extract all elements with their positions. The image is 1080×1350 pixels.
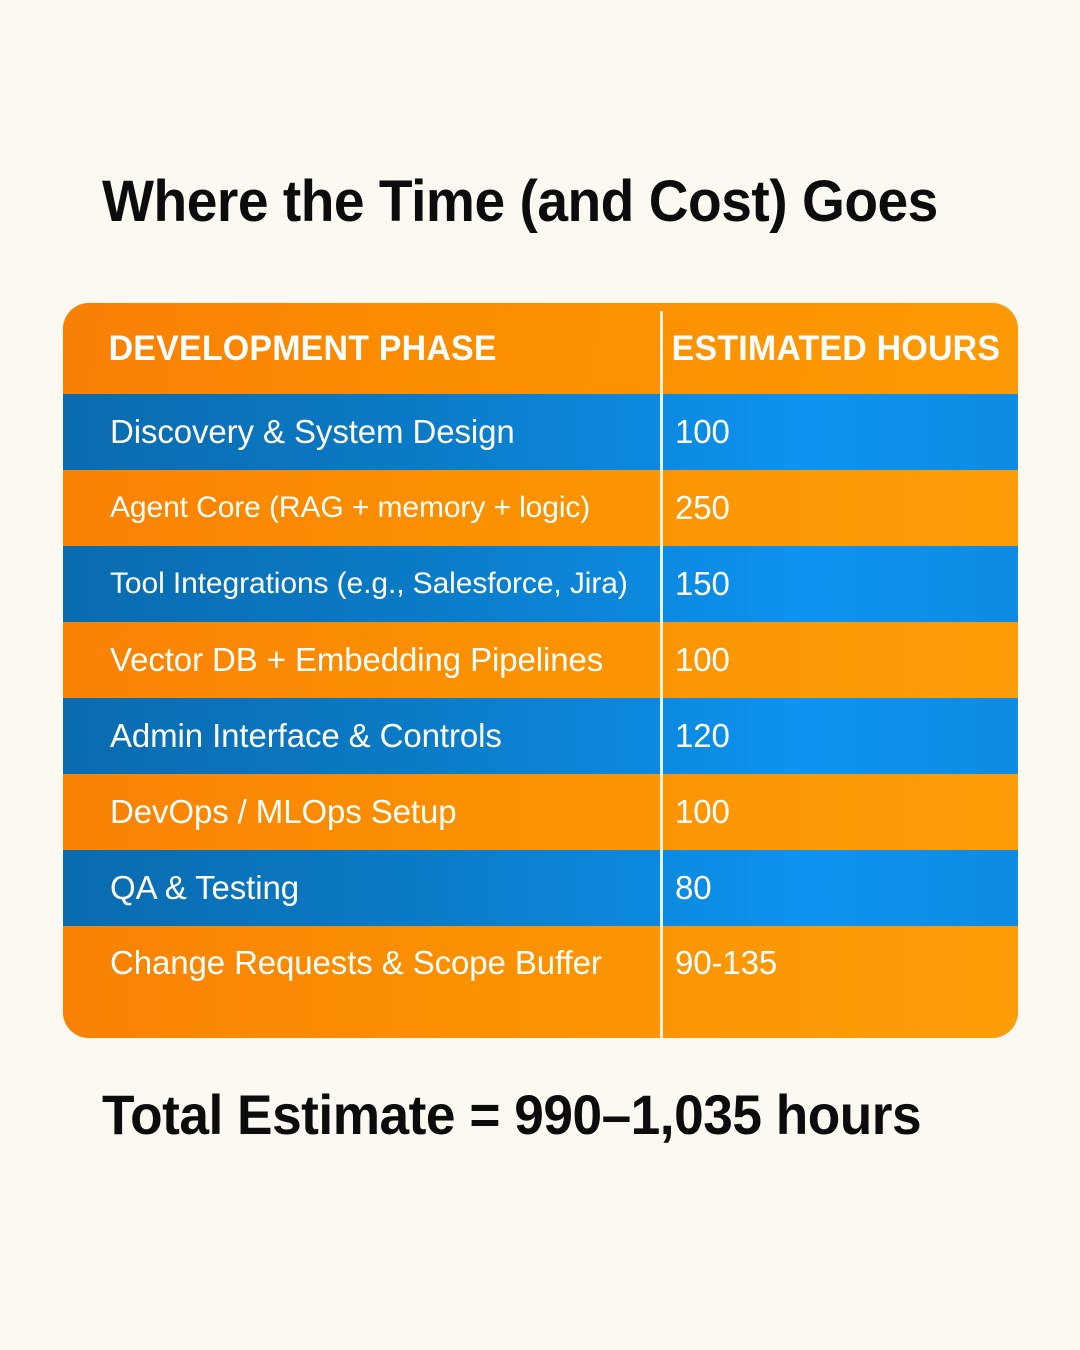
table-row[interactable]: Agent Core (RAG + memory + logic) 250 <box>63 470 1018 546</box>
total-estimate-text: Total Estimate = 990–1,035 hours <box>102 1086 957 1145</box>
column-divider <box>660 850 663 926</box>
column-divider <box>660 546 663 622</box>
cell-hours: 100 <box>660 793 1018 831</box>
cell-phase: Change Requests & Scope Buffer <box>63 944 660 982</box>
column-divider <box>660 470 663 546</box>
page-title: Where the Time (and Cost) Goes <box>102 172 957 233</box>
cell-hours: 80 <box>660 869 1018 907</box>
cell-phase: Agent Core (RAG + memory + logic) <box>63 491 660 525</box>
cell-phase: Tool Integrations (e.g., Salesforce, Jir… <box>63 567 660 601</box>
table-row[interactable]: Change Requests & Scope Buffer 90-135 <box>63 926 1018 1038</box>
cell-hours: 100 <box>660 641 1018 679</box>
column-divider <box>660 622 663 698</box>
column-header-estimated-hours: ESTIMATED HOURS <box>660 329 1007 369</box>
column-header-development-phase: DEVELOPMENT PHASE <box>63 329 642 369</box>
cell-hours: 150 <box>660 565 1018 603</box>
table-row[interactable]: Tool Integrations (e.g., Salesforce, Jir… <box>63 546 1018 622</box>
cell-hours: 90-135 <box>660 944 1018 982</box>
column-divider <box>660 394 663 470</box>
cell-hours: 250 <box>660 489 1018 527</box>
poster-canvas: Where the Time (and Cost) Goes DEVELOPME… <box>0 0 1080 1350</box>
cell-hours: 120 <box>660 717 1018 755</box>
table-row[interactable]: Discovery & System Design 100 <box>63 394 1018 470</box>
cell-phase: QA & Testing <box>63 869 660 907</box>
table-row[interactable]: QA & Testing 80 <box>63 850 1018 926</box>
cell-phase: Discovery & System Design <box>63 413 660 451</box>
table-row[interactable]: Admin Interface & Controls 120 <box>63 698 1018 774</box>
table-row[interactable]: Vector DB + Embedding Pipelines 100 <box>63 622 1018 698</box>
cell-phase: Admin Interface & Controls <box>63 717 660 755</box>
table-header-row: DEVELOPMENT PHASE ESTIMATED HOURS <box>63 303 1018 394</box>
cell-hours: 100 <box>660 413 1018 451</box>
column-divider <box>660 698 663 774</box>
estimate-table: DEVELOPMENT PHASE ESTIMATED HOURS Discov… <box>63 303 1018 1038</box>
cell-phase: Vector DB + Embedding Pipelines <box>63 641 660 679</box>
column-divider <box>660 926 663 1038</box>
table-row[interactable]: DevOps / MLOps Setup 100 <box>63 774 1018 850</box>
cell-phase: DevOps / MLOps Setup <box>63 793 660 831</box>
column-divider <box>660 774 663 850</box>
